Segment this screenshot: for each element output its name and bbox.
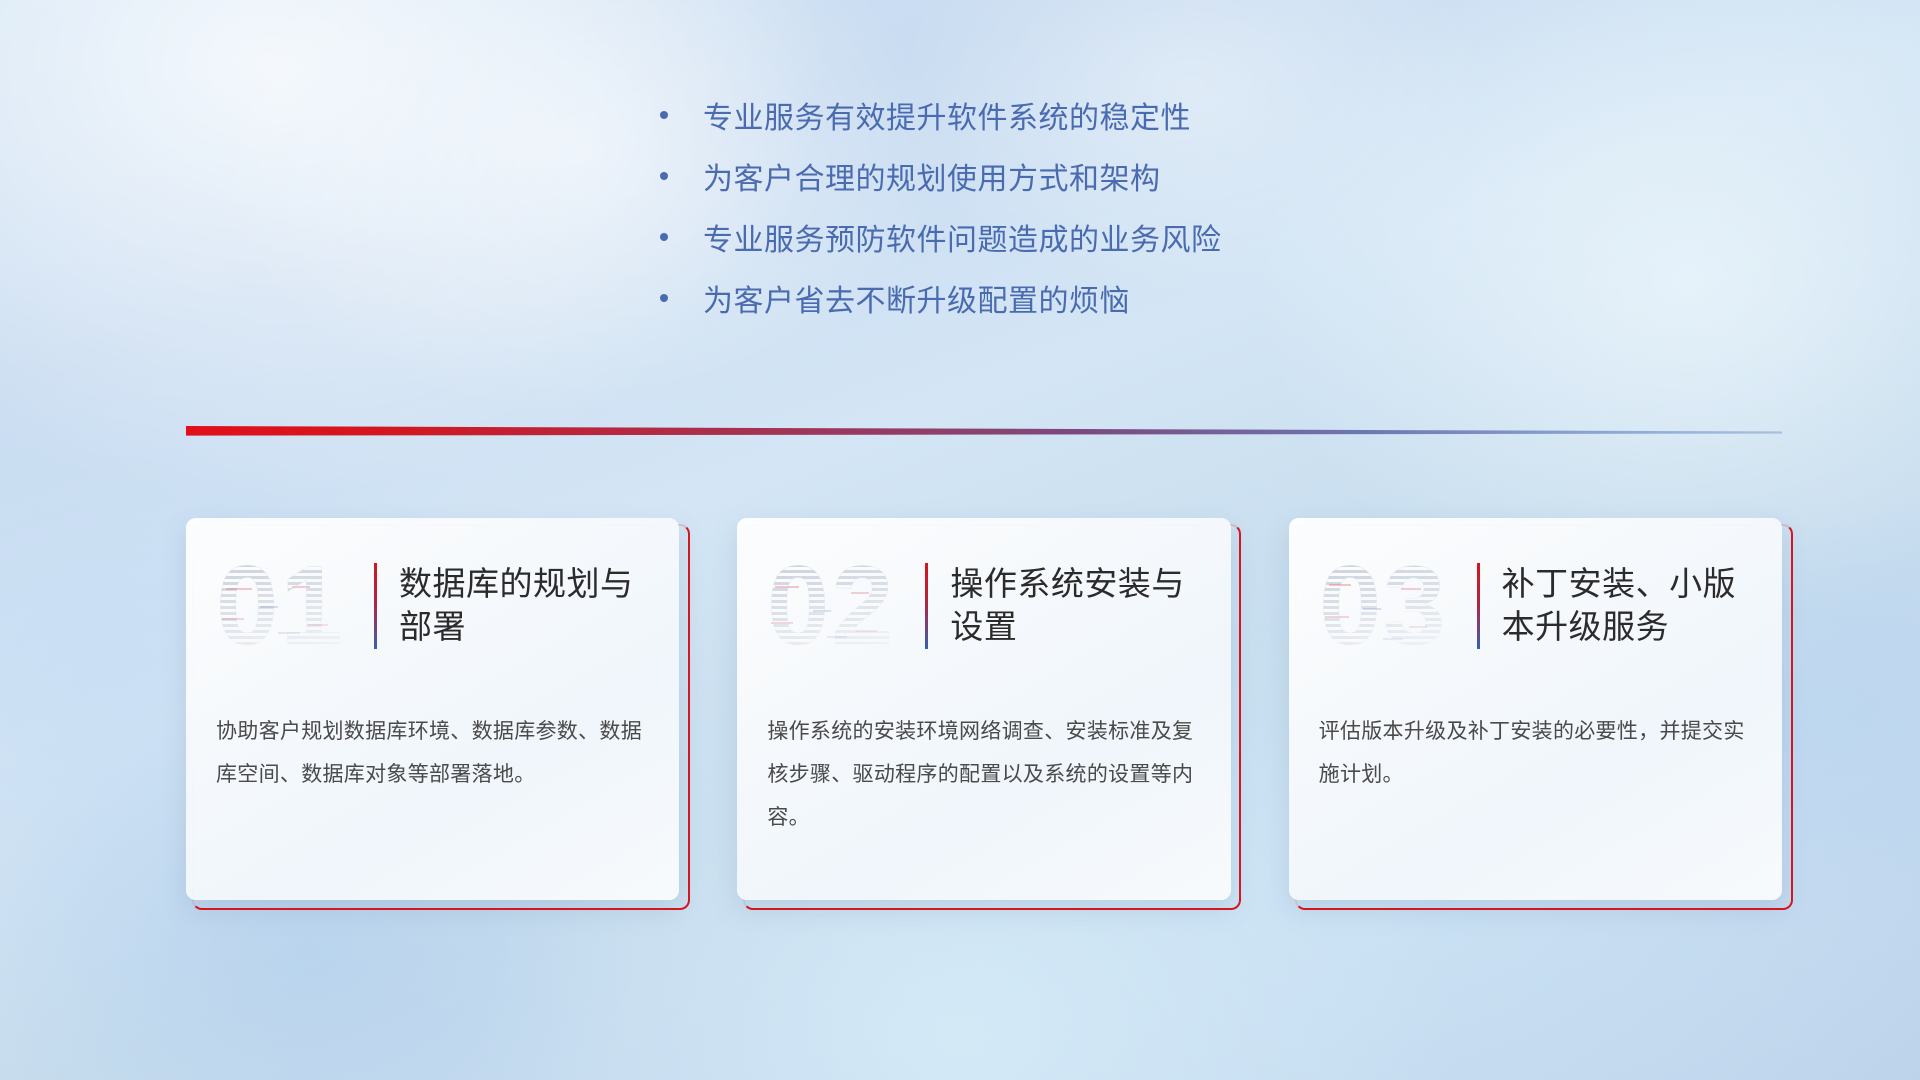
- service-card[interactable]: 01 01: [186, 518, 679, 900]
- service-card-row: 01 01: [186, 518, 1782, 900]
- bullet-dot-icon: [660, 233, 668, 241]
- card-surface: 01 01: [186, 518, 679, 900]
- bullet-item: 为客户合理的规划使用方式和架构: [660, 165, 1222, 195]
- card-title-rule: [925, 563, 928, 649]
- bullet-dot-icon: [660, 172, 668, 180]
- service-card[interactable]: 03 03: [1289, 518, 1782, 900]
- service-card[interactable]: 02 02: [737, 518, 1230, 900]
- striped-number-03-icon: 03 03: [1319, 552, 1469, 660]
- svg-text:03: 03: [1319, 552, 1448, 660]
- card-description: 操作系统的安装环境网络调查、安装标准及复核步骤、驱动程序的配置以及系统的设置等内…: [767, 710, 1204, 839]
- card-number-decoration: 02 02: [767, 552, 917, 660]
- bullet-item: 为客户省去不断升级配置的烦恼: [660, 287, 1222, 317]
- section-divider: [186, 424, 1782, 440]
- card-title: 补丁安装、小版本升级服务: [1502, 563, 1752, 649]
- slide-canvas: 专业服务有效提升软件系统的稳定性 为客户合理的规划使用方式和架构 专业服务预防软…: [0, 0, 1920, 1080]
- divider-wedge-icon: [186, 424, 1782, 440]
- card-header: 01 01: [186, 540, 679, 672]
- bullet-item-label: 为客户省去不断升级配置的烦恼: [703, 287, 1130, 317]
- bullet-dot-icon: [660, 294, 668, 302]
- card-header: 03 03: [1289, 540, 1782, 672]
- bullet-item-label: 专业服务有效提升软件系统的稳定性: [703, 104, 1191, 134]
- bullet-item-label: 为客户合理的规划使用方式和架构: [703, 165, 1161, 195]
- bullet-list: 专业服务有效提升软件系统的稳定性 为客户合理的规划使用方式和架构 专业服务预防软…: [660, 104, 1222, 348]
- svg-text:01: 01: [216, 552, 345, 660]
- card-title: 数据库的规划与部署: [399, 563, 649, 649]
- bullet-dot-icon: [660, 111, 668, 119]
- svg-text:02: 02: [767, 552, 896, 660]
- card-number-decoration: 03 03: [1319, 552, 1469, 660]
- card-surface: 02 02: [737, 518, 1230, 900]
- bullet-item: 专业服务有效提升软件系统的稳定性: [660, 104, 1222, 134]
- striped-number-02-icon: 02 02: [767, 552, 917, 660]
- card-description: 评估版本升级及补丁安装的必要性，并提交实施计划。: [1319, 710, 1756, 796]
- card-title-rule: [374, 563, 377, 649]
- card-description: 协助客户规划数据库环境、数据库参数、数据库空间、数据库对象等部署落地。: [216, 710, 653, 796]
- bullet-item-label: 专业服务预防软件问题造成的业务风险: [703, 226, 1222, 256]
- card-number-decoration: 01 01: [216, 552, 366, 660]
- striped-number-01-icon: 01 01: [216, 552, 366, 660]
- card-surface: 03 03: [1289, 518, 1782, 900]
- card-title: 操作系统安装与设置: [950, 563, 1200, 649]
- bullet-item: 专业服务预防软件问题造成的业务风险: [660, 226, 1222, 256]
- card-title-rule: [1477, 563, 1480, 649]
- card-header: 02 02: [737, 540, 1230, 672]
